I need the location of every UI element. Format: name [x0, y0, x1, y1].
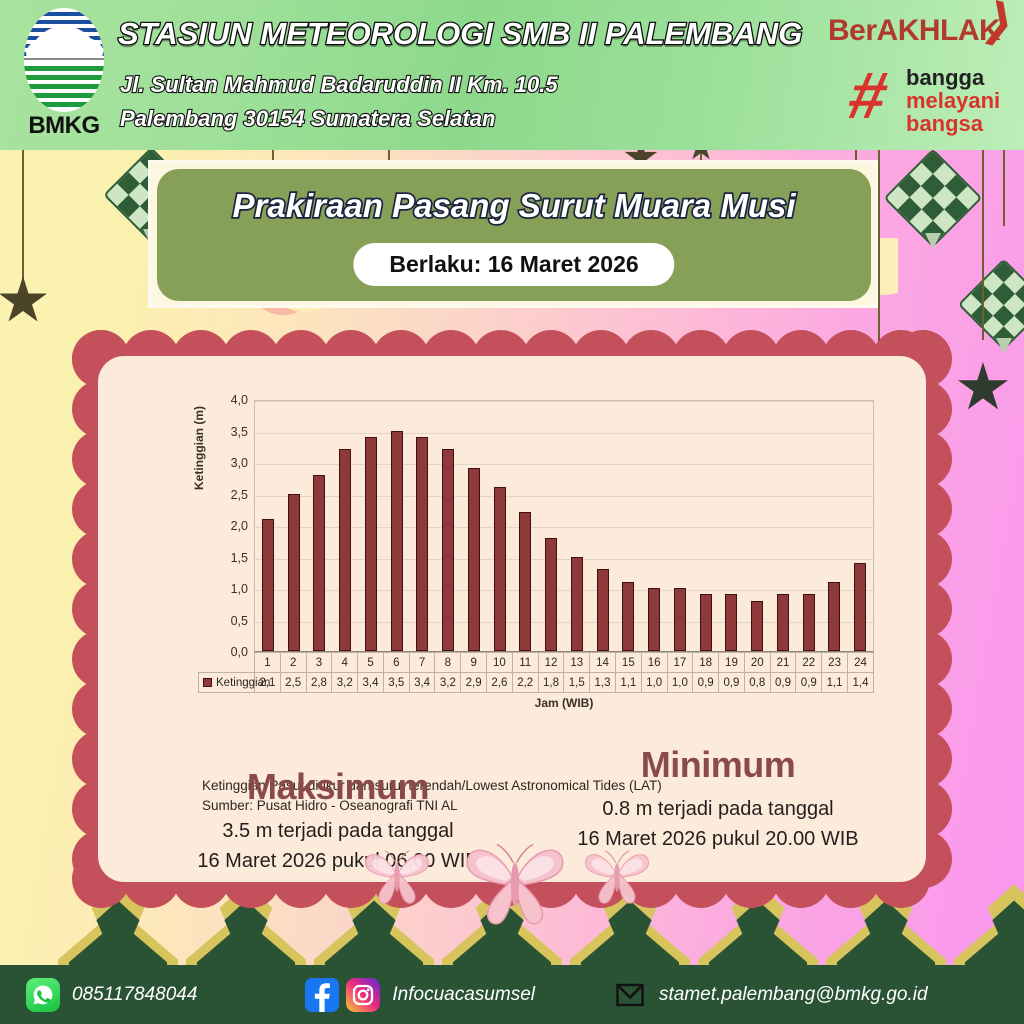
chart-bar-cell — [693, 401, 719, 651]
chart-bar-cell — [641, 401, 667, 651]
table-cell-hour: 17 — [667, 653, 693, 673]
chart-bar — [262, 519, 274, 651]
table-cell-height: 2,5 — [280, 673, 306, 693]
chart-y-tick: 1,5 — [231, 551, 248, 565]
table-cell-height: 3,4 — [409, 673, 435, 693]
chart-bar — [339, 449, 351, 651]
chart-bar-cell — [307, 401, 333, 651]
chart-bar-cell — [538, 401, 564, 651]
chart-bar — [751, 601, 763, 651]
chart-bar — [416, 437, 428, 651]
chart-bar-cell — [770, 401, 796, 651]
table-cell-height: 0,9 — [693, 673, 719, 693]
chart-y-axis-ticks: 0,00,51,01,52,02,53,03,54,0 — [212, 400, 248, 652]
berakhlak-logo: BerAKHLAK ❯ — [828, 14, 1010, 56]
table-cell-height: 0,9 — [770, 673, 796, 693]
chart-bar-cell — [744, 401, 770, 651]
address-line-2: Palembang 30154 Sumatera Selatan — [120, 106, 495, 132]
chart-y-tick: 1,0 — [231, 582, 248, 596]
chart-y-tick: 3,0 — [231, 456, 248, 470]
table-cell-height: 1,5 — [564, 673, 590, 693]
chart-bar-cell — [281, 401, 307, 651]
chart-bar — [571, 557, 583, 652]
content-card: Ketinggian (m) 0,00,51,01,52,02,53,03,54… — [72, 330, 952, 908]
bangga-line-2: melayani — [906, 89, 1000, 112]
chart-bar-cell — [358, 401, 384, 651]
table-cell-height: 3,5 — [383, 673, 409, 693]
table-cell-hour: 24 — [847, 653, 873, 673]
chart-bar — [494, 487, 506, 651]
table-cell-height: 3,2 — [332, 673, 358, 693]
minimum-line-1: 0.8 m terjadi pada tanggal — [528, 794, 908, 824]
validity-badge: Berlaku: 16 Maret 2026 — [353, 243, 674, 286]
table-corner-blank — [199, 653, 255, 673]
chart-bar-cell — [487, 401, 513, 651]
poster-canvas: BMKG STASIUN METEOROLOGI SMB II PALEMBAN… — [0, 0, 1024, 1024]
chart-bar — [622, 582, 634, 651]
table-cell-hour: 22 — [796, 653, 822, 673]
email-contact[interactable]: stamet.palembang@bmkg.go.id — [613, 978, 928, 1012]
table-cell-hour: 12 — [538, 653, 564, 673]
chart-y-tick: 0,5 — [231, 614, 248, 628]
chart-legend-entry: Ketinggian — [199, 673, 255, 693]
address-line-1: Jl. Sultan Mahmud Badaruddin II Km. 10.5 — [120, 72, 558, 98]
table-cell-hour: 7 — [409, 653, 435, 673]
table-cell-height: 3,4 — [358, 673, 384, 693]
ketupat-icon — [887, 152, 979, 244]
table-cell-hour: 13 — [564, 653, 590, 673]
facebook-icon — [305, 978, 339, 1012]
table-cell-hour: 8 — [435, 653, 461, 673]
table-cell-height: 2,9 — [461, 673, 487, 693]
chart-bar — [854, 563, 866, 651]
chart-bar-cell — [590, 401, 616, 651]
table-cell-hour: 6 — [383, 653, 409, 673]
table-cell-hour: 9 — [461, 653, 487, 673]
chart-bar — [648, 588, 660, 651]
chart-bar-cell — [564, 401, 590, 651]
ornament-string — [982, 150, 984, 340]
chart-bar — [365, 437, 377, 651]
bangga-melayani-bangsa-logo: # bangga melayani bangsa — [830, 60, 1008, 140]
chart-bar-cell — [847, 401, 873, 651]
ketupat-icon — [961, 262, 1024, 348]
table-cell-hour: 23 — [822, 653, 848, 673]
chart-bar — [519, 512, 531, 651]
instagram-icon — [346, 978, 380, 1012]
chart-bar — [313, 475, 325, 651]
header-bar: BMKG STASIUN METEOROLOGI SMB II PALEMBAN… — [0, 0, 1024, 150]
table-cell-height: 0,8 — [744, 673, 770, 693]
berakhlak-label: BerAKHLAK — [828, 14, 1000, 48]
table-cell-height: 2,6 — [487, 673, 513, 693]
chart-bar-cell — [822, 401, 848, 651]
table-cell-height: 3,2 — [435, 673, 461, 693]
table-cell-hour: 1 — [255, 653, 281, 673]
ornament-string — [1003, 150, 1005, 226]
maximum-title: Maksimum — [158, 766, 518, 808]
table-cell-height: 1,3 — [590, 673, 616, 693]
chart-bar-cell — [513, 401, 539, 651]
table-cell-height: 0,9 — [796, 673, 822, 693]
envelope-icon — [613, 978, 647, 1012]
table-cell-height: 1,0 — [641, 673, 667, 693]
chart-data-table: 123456789101112131415161718192021222324 … — [198, 652, 874, 693]
chart-plot-area — [254, 400, 874, 652]
social-handle: Infocuacasumsel — [392, 984, 535, 1006]
table-cell-hour: 3 — [306, 653, 332, 673]
chart-bar — [288, 494, 300, 652]
table-cell-height: 1,1 — [822, 673, 848, 693]
chart-bar-cell — [667, 401, 693, 651]
footer-bar: 085117848044 Infocuacasumsel — [0, 965, 1024, 1024]
chart-bar-cell — [255, 401, 281, 651]
table-row-categories: 123456789101112131415161718192021222324 — [199, 653, 874, 673]
star-icon — [957, 362, 1009, 414]
email-address: stamet.palembang@bmkg.go.id — [659, 984, 928, 1006]
chart-bar — [803, 594, 815, 651]
table-cell-height: 0,9 — [719, 673, 745, 693]
chart-bar — [828, 582, 840, 651]
chart-bar-cell — [384, 401, 410, 651]
table-cell-height: 2,2 — [512, 673, 538, 693]
table-cell-hour: 11 — [512, 653, 538, 673]
chart-y-axis-title: Ketinggian (m) — [192, 406, 206, 490]
chart-y-tick: 2,0 — [231, 519, 248, 533]
table-cell-height: 1,1 — [615, 673, 641, 693]
bangga-line-3: bangsa — [906, 112, 983, 135]
table-cell-hour: 15 — [615, 653, 641, 673]
minimum-title: Minimum — [528, 744, 908, 786]
chart-bar-cell — [410, 401, 436, 651]
chart-bars — [255, 401, 873, 651]
table-cell-height: 1,4 — [847, 673, 873, 693]
chart-bar — [468, 468, 480, 651]
chart-x-axis-title: Jam (WIB) — [254, 696, 874, 710]
chart-bar-cell — [796, 401, 822, 651]
berakhlak-swoosh-icon: ❯ — [981, 0, 1018, 49]
validity-label: Berlaku: 16 Maret 2026 — [389, 251, 638, 277]
chart-bar — [545, 538, 557, 651]
table-cell-hour: 2 — [280, 653, 306, 673]
chart-bar-cell — [435, 401, 461, 651]
legend-swatch-icon — [203, 678, 212, 687]
chart-bar-cell — [719, 401, 745, 651]
chart-bar-cell — [616, 401, 642, 651]
bmkg-logo: BMKG — [14, 8, 114, 142]
chart-bar — [674, 588, 686, 651]
table-cell-hour: 19 — [719, 653, 745, 673]
table-cell-hour: 10 — [487, 653, 513, 673]
chart-bar-cell — [332, 401, 358, 651]
title-banner: Prakiraan Pasang Surut Muara Musi Berlak… — [148, 160, 878, 308]
chart-bar — [597, 569, 609, 651]
table-cell-height: 2,8 — [306, 673, 332, 693]
table-cell-hour: 16 — [641, 653, 667, 673]
bmkg-logo-circle — [24, 8, 104, 112]
table-cell-hour: 4 — [332, 653, 358, 673]
bmkg-logo-text: BMKG — [14, 112, 114, 140]
bmkg-logo-land — [24, 60, 104, 112]
chart-bar — [700, 594, 712, 651]
card-body: Ketinggian (m) 0,00,51,01,52,02,53,03,54… — [98, 356, 926, 882]
chart-bar — [442, 449, 454, 651]
table-cell-hour: 21 — [770, 653, 796, 673]
whatsapp-icon — [26, 978, 60, 1012]
chart-bar — [725, 594, 737, 651]
bangga-line-1: bangga — [906, 66, 984, 89]
chart-y-tick: 4,0 — [231, 393, 248, 407]
whatsapp-number: 085117848044 — [72, 984, 197, 1006]
title-banner-inner: Prakiraan Pasang Surut Muara Musi Berlak… — [157, 169, 871, 301]
social-contact[interactable]: Infocuacasumsel — [305, 978, 535, 1012]
hash-icon: # — [843, 62, 894, 128]
mosque-arch — [954, 884, 1024, 976]
table-cell-height: 1,0 — [667, 673, 693, 693]
banner-title: Prakiraan Pasang Surut Muara Musi — [157, 187, 871, 225]
ornament-string — [22, 150, 24, 290]
table-cell-height: 1,8 — [538, 673, 564, 693]
butterfly-icon — [568, 840, 666, 906]
chart-y-tick: 3,5 — [231, 425, 248, 439]
table-cell-hour: 5 — [358, 653, 384, 673]
star-icon — [0, 276, 48, 326]
table-cell-hour: 18 — [693, 653, 719, 673]
tide-chart: Ketinggian (m) 0,00,51,01,52,02,53,03,54… — [198, 400, 888, 720]
butterfly-icon — [348, 840, 446, 906]
chart-bar — [391, 431, 403, 652]
chart-y-tick: 2,5 — [231, 488, 248, 502]
whatsapp-contact[interactable]: 085117848044 — [26, 978, 197, 1012]
chart-bar-cell — [461, 401, 487, 651]
table-cell-hour: 20 — [744, 653, 770, 673]
ornament-string — [878, 150, 880, 360]
chart-bar — [777, 594, 789, 651]
page-title: STASIUN METEOROLOGI SMB II PALEMBANG — [118, 16, 802, 52]
table-cell-hour: 14 — [590, 653, 616, 673]
table-row-values: Ketinggian2,12,52,83,23,43,53,43,22,92,6… — [199, 673, 874, 693]
